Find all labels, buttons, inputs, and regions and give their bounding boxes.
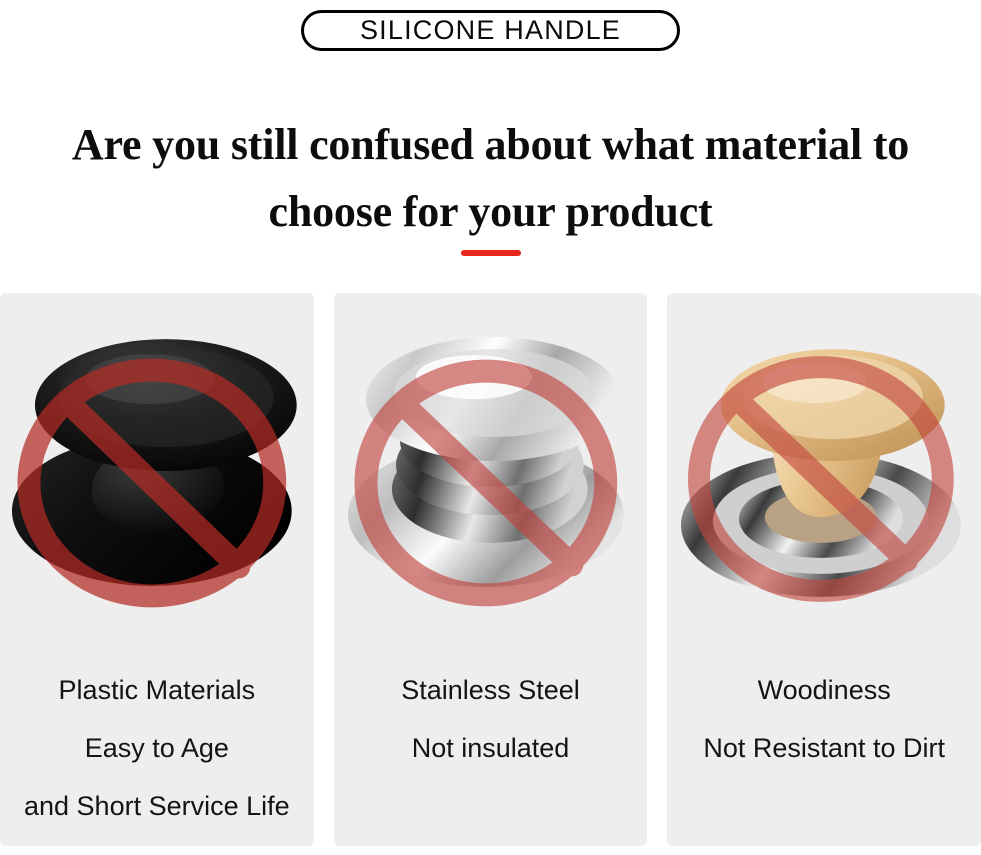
- material-card-plastic: Plastic Materials Easy to Age and Short …: [0, 293, 314, 846]
- stainless-steel-caption-line-1: Stainless Steel: [340, 661, 642, 719]
- plastic-caption: Plastic Materials Easy to Age and Short …: [0, 661, 314, 846]
- material-cards-row: Plastic Materials Easy to Age and Short …: [0, 293, 981, 846]
- silicone-handle-badge: SILICONE HANDLE: [301, 10, 680, 51]
- stainless-steel-knob-image: [334, 293, 648, 661]
- plastic-knob-image: [0, 293, 314, 661]
- headline-line-2: choose for your product: [0, 178, 981, 245]
- badge-container: SILICONE HANDLE: [0, 10, 981, 51]
- badge-label: SILICONE HANDLE: [360, 17, 621, 44]
- headline-line-1: Are you still confused about what materi…: [0, 111, 981, 178]
- divider-container: [0, 250, 981, 256]
- plastic-caption-line-2: Easy to Age: [6, 719, 308, 777]
- material-card-stainless-steel: Stainless Steel Not insulated: [334, 293, 648, 846]
- stainless-steel-caption-line-2: Not insulated: [340, 719, 642, 777]
- page-title: Are you still confused about what materi…: [0, 111, 981, 245]
- woodiness-caption: Woodiness Not Resistant to Dirt: [667, 661, 981, 846]
- woodiness-caption-line-1: Woodiness: [673, 661, 975, 719]
- woodiness-caption-line-2: Not Resistant to Dirt: [673, 719, 975, 777]
- plastic-caption-line-1: Plastic Materials: [6, 661, 308, 719]
- red-divider: [461, 250, 521, 256]
- material-card-woodiness: Woodiness Not Resistant to Dirt: [667, 293, 981, 846]
- wooden-knob-image: [667, 293, 981, 661]
- stainless-steel-caption: Stainless Steel Not insulated: [334, 661, 648, 846]
- plastic-caption-line-3: and Short Service Life: [6, 777, 308, 835]
